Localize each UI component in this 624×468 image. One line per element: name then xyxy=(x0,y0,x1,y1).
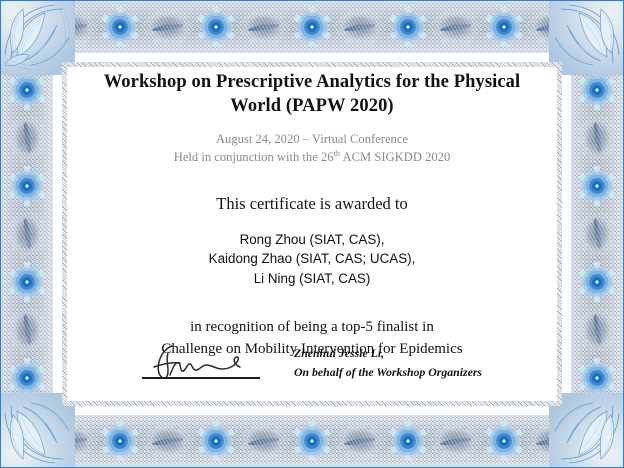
border-band-bottom xyxy=(1,415,623,467)
signature-block: Zhenhui Jessie Li, On behalf of the Work… xyxy=(73,341,551,385)
awarded-to-label: This certificate is awarded to xyxy=(73,194,551,214)
guilloche-lens-motif-icon xyxy=(7,206,47,262)
signature-area xyxy=(142,341,260,385)
guilloche-star-rosette-icon xyxy=(7,358,47,398)
guilloche-star-rosette-icon xyxy=(577,358,617,398)
handwritten-signature-icon xyxy=(142,341,260,381)
list-item: Kaidong Zhao (SIAT, CAS; UCAS), xyxy=(73,249,551,268)
signatory-name: Zhenhui Jessie Li, xyxy=(294,344,482,362)
subtitle-line-2-after: ACM SIGKDD 2020 xyxy=(340,150,450,164)
guilloche-star-rosette-icon xyxy=(577,262,617,302)
guilloche-star-rosette-icon xyxy=(7,166,47,206)
guilloche-star-rosette-icon xyxy=(100,421,140,461)
certificate-content: Workshop on Prescriptive Analytics for t… xyxy=(73,71,551,397)
title-line-1: Workshop on Prescriptive Analytics for t… xyxy=(104,72,521,92)
recognition-line-1: in recognition of being a top-5 finalist… xyxy=(190,319,434,335)
recipient-list: Rong Zhou (SIAT, CAS), Kaidong Zhao (SIA… xyxy=(73,230,551,288)
subtitle-line-2: Held in conjunction with the 26th ACM SI… xyxy=(174,150,451,164)
guilloche-star-rosette-icon xyxy=(292,7,332,47)
guilloche-lens-motif-icon xyxy=(140,7,196,47)
guilloche-star-rosette-icon xyxy=(292,421,332,461)
guilloche-star-rosette-icon xyxy=(100,7,140,47)
guilloche-star-rosette-icon xyxy=(484,7,524,47)
border-band-top xyxy=(1,1,623,53)
subtitle-line-1: August 24, 2020 – Virtual Conference xyxy=(216,132,408,146)
guilloche-lens-motif-icon xyxy=(577,110,617,166)
guilloche-star-rosette-icon xyxy=(577,70,617,110)
certificate-document: Workshop on Prescriptive Analytics for t… xyxy=(0,0,624,468)
guilloche-lens-motif-icon xyxy=(7,110,47,166)
list-item: Li Ning (SIAT, CAS) xyxy=(73,269,551,288)
guilloche-lens-motif-icon xyxy=(428,421,484,461)
guilloche-star-rosette-icon xyxy=(577,166,617,206)
signatory-details: Zhenhui Jessie Li, On behalf of the Work… xyxy=(294,344,482,385)
border-motif-row-bottom xyxy=(1,415,623,467)
signatory-role: On behalf of the Workshop Organizers xyxy=(294,363,482,381)
guilloche-star-rosette-icon xyxy=(388,7,428,47)
guilloche-lens-motif-icon xyxy=(236,7,292,47)
signature-line xyxy=(142,377,260,379)
event-subtitle: August 24, 2020 – Virtual Conference Hel… xyxy=(73,131,551,167)
guilloche-lens-motif-icon xyxy=(428,7,484,47)
title-line-2: World (PAPW 2020) xyxy=(230,96,393,116)
guilloche-lens-motif-icon xyxy=(577,206,617,262)
guilloche-star-rosette-icon xyxy=(196,7,236,47)
guilloche-star-rosette-icon xyxy=(196,421,236,461)
guilloche-lens-motif-icon xyxy=(332,421,388,461)
guilloche-lens-motif-icon xyxy=(577,302,617,358)
guilloche-star-rosette-icon xyxy=(388,421,428,461)
guilloche-star-rosette-icon xyxy=(7,70,47,110)
guilloche-lens-motif-icon xyxy=(332,7,388,47)
guilloche-lens-motif-icon xyxy=(236,421,292,461)
border-motif-row-top xyxy=(1,1,623,53)
guilloche-star-rosette-icon xyxy=(7,262,47,302)
guilloche-lens-motif-icon xyxy=(7,302,47,358)
guilloche-lens-motif-icon xyxy=(140,421,196,461)
guilloche-star-rosette-icon xyxy=(484,421,524,461)
list-item: Rong Zhou (SIAT, CAS), xyxy=(73,230,551,249)
page-title: Workshop on Prescriptive Analytics for t… xyxy=(77,71,547,118)
subtitle-line-2-before: Held in conjunction with the 26 xyxy=(174,150,334,164)
